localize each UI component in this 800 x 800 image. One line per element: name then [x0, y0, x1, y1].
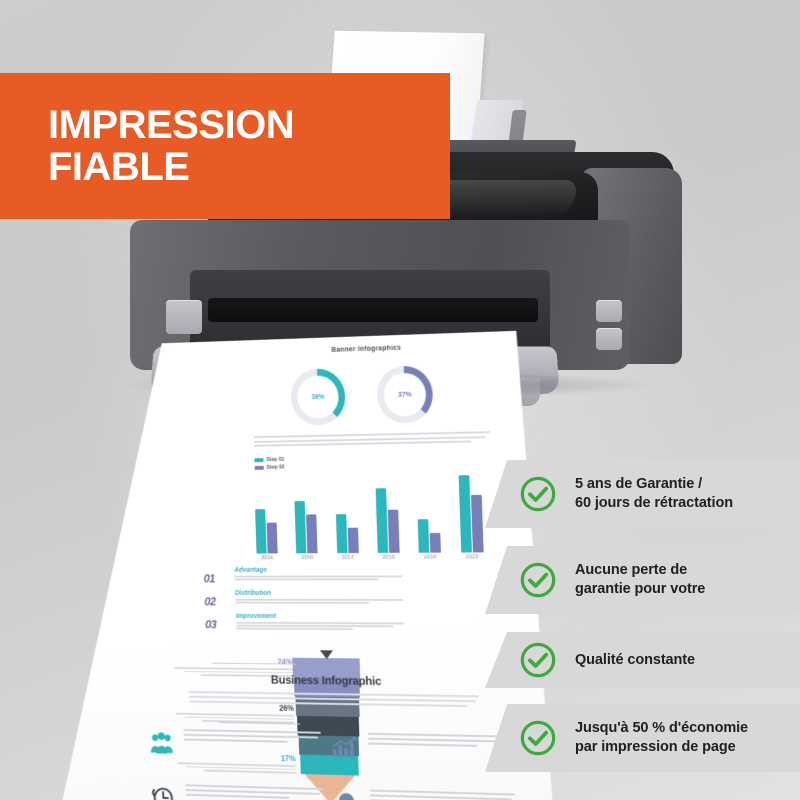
check-circle-icon — [519, 719, 557, 757]
headline-line-1: IMPRESSION — [48, 104, 450, 146]
headline-line-2: FIABLE — [48, 146, 450, 188]
donut-chart-2: 37% — [376, 365, 433, 423]
poster-canvas: Banner Infographics 38% 37% Step 01 — [0, 0, 800, 800]
printer-power-button[interactable] — [166, 300, 202, 334]
feature-label-2: Qualité constante — [575, 651, 695, 670]
feature-item-3[interactable]: Jusqu'à 50 % d'économie par impression d… — [485, 704, 800, 772]
printer-control-button-2[interactable] — [596, 328, 622, 350]
feature-label-0: 5 ans de Garantie / 60 jours de rétracta… — [575, 475, 733, 512]
feature-list: 5 ans de Garantie / 60 jours de rétracta… — [0, 450, 800, 800]
donut-chart-1: 38% — [290, 368, 346, 426]
infographic-paragraph — [254, 431, 491, 449]
feature-label-1: Aucune perte de garantie pour votre — [575, 561, 705, 598]
headline-banner: IMPRESSION FIABLE — [0, 73, 450, 219]
check-circle-icon — [519, 561, 557, 599]
feature-item-2[interactable]: Qualité constante — [485, 632, 800, 688]
infographic-title: Banner Infographics — [254, 342, 481, 356]
feature-label-3: Jusqu'à 50 % d'économie par impression d… — [575, 719, 748, 756]
check-circle-icon — [519, 641, 557, 679]
printer-control-button-1[interactable] — [596, 300, 622, 322]
check-circle-icon — [519, 475, 557, 513]
feature-item-1[interactable]: Aucune perte de garantie pour votre — [485, 546, 800, 614]
printer-paper-slot — [208, 298, 538, 322]
feature-item-0[interactable]: 5 ans de Garantie / 60 jours de rétracta… — [485, 460, 800, 528]
